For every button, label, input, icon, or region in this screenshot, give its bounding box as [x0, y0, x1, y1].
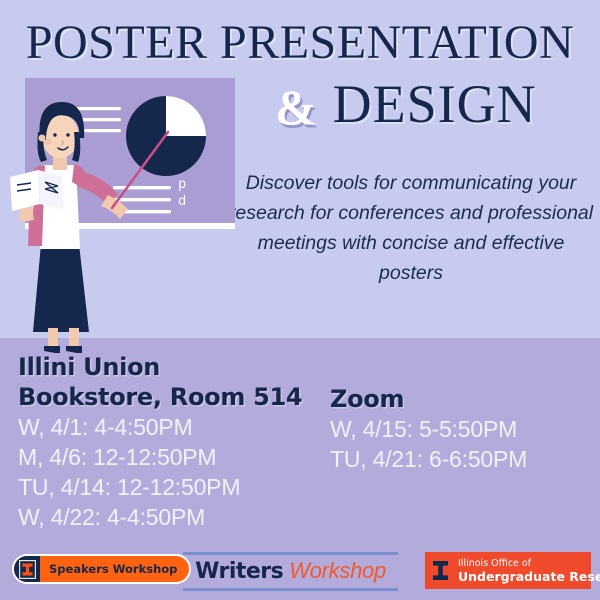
- ampersand-glyph: &: [275, 79, 317, 135]
- event-schedule: Illini Union Bookstore, Room 514 W, 4/1:…: [0, 352, 600, 542]
- board-glyph-d: d: [178, 194, 186, 209]
- description-text: Discover tools for communicating your re…: [228, 168, 594, 288]
- session-time: W, 4/1: 4-4:50PM: [18, 412, 338, 442]
- speakers-workshop-label: Speakers Workshop: [40, 562, 189, 576]
- speakers-workshop-pill: Speakers Workshop: [14, 556, 189, 582]
- venue-block-zoom: Zoom W, 4/15: 5-5:50PM TU, 4/21: 6-6:50P…: [330, 384, 590, 474]
- venue-block-illini-union: Illini Union Bookstore, Room 514 W, 4/1:…: [18, 352, 338, 532]
- poster-flyer: POSTER PRESENTATION &DESIGN Discover too…: [0, 0, 600, 600]
- person-blush: [45, 139, 51, 145]
- session-time: W, 4/15: 5-5:50PM: [330, 414, 590, 444]
- board-glyph-p: p: [178, 177, 186, 192]
- person-skirt: [33, 244, 89, 332]
- presenter-illustration: p d: [0, 70, 235, 360]
- logo-writers-workshop: WritersWorkshop: [183, 552, 398, 591]
- writers-workshop-word-1: Writers: [195, 559, 283, 584]
- session-time: TU, 4/21: 6-6:50PM: [330, 444, 590, 474]
- page-title-design-word: DESIGN: [333, 74, 537, 134]
- undergraduate-research-line-2: Undergraduate Research: [458, 571, 600, 584]
- session-time: TU, 4/14: 12-12:50PM: [18, 472, 338, 502]
- logo-speakers-workshop: Speakers Workshop: [12, 554, 191, 584]
- person-ear: [39, 135, 46, 142]
- venue-name-illini-union: Illini Union Bookstore, Room 514: [18, 352, 338, 412]
- logo-undergraduate-research: Illinois Office of Undergraduate Researc…: [425, 552, 591, 589]
- illinois-block-i-icon: [14, 556, 40, 582]
- writers-workshop-word-2: Workshop: [289, 558, 386, 583]
- venue-name-zoom: Zoom: [330, 384, 590, 414]
- venue-name-line-2: Bookstore, Room 514: [18, 382, 338, 412]
- session-time: M, 4/6: 12-12:50PM: [18, 442, 338, 472]
- venue-name-line-1: Illini Union: [18, 353, 160, 381]
- undergraduate-research-text: Illinois Office of Undergraduate Researc…: [455, 558, 600, 583]
- illinois-block-i-icon: [425, 552, 455, 589]
- sponsor-logo-bar: Speakers Workshop WritersWorkshop Illino…: [0, 548, 600, 600]
- session-time: W, 4/22: 4-4:50PM: [18, 502, 338, 532]
- page-title-line-2: &DESIGN: [275, 73, 600, 136]
- page-title-line-1: POSTER PRESENTATION: [0, 17, 600, 69]
